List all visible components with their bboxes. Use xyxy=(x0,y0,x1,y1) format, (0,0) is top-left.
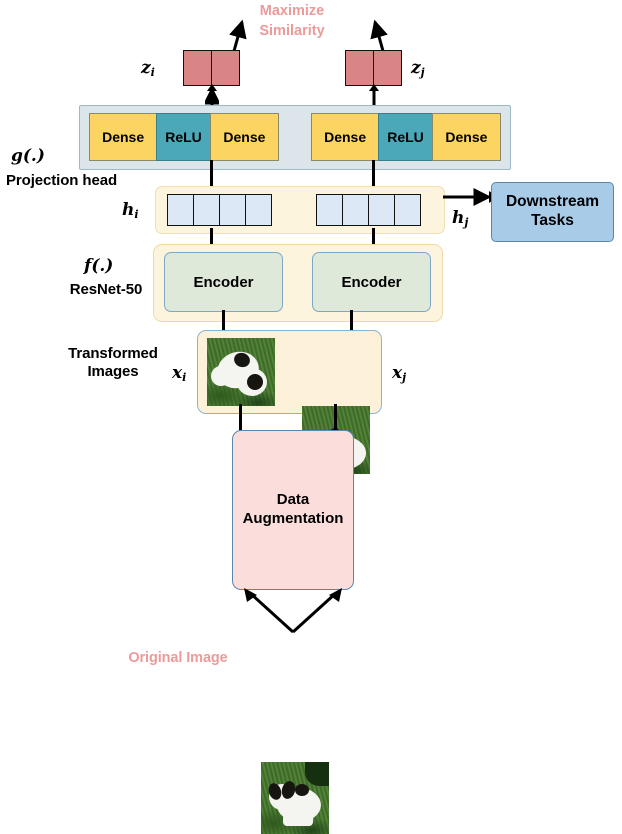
h-cell xyxy=(245,194,272,226)
encoder-i[interactable]: Encoder xyxy=(164,252,283,312)
simclr-diagram: Maximize Similarity zi zj Dense ReLU Den… xyxy=(0,0,622,701)
encoder-j[interactable]: Encoder xyxy=(312,252,431,312)
data-augmentation-box[interactable]: Data Augmentation xyxy=(232,430,354,590)
z-cell xyxy=(183,50,212,86)
original-to-augmentation-arrows xyxy=(232,586,354,634)
h-cell xyxy=(342,194,369,226)
z-i-label: zi xyxy=(141,60,155,77)
projection-function-label: g(.) xyxy=(11,148,45,165)
h-cell xyxy=(368,194,395,226)
projection-head-j: Dense ReLU Dense xyxy=(311,113,501,161)
dog-back-patch xyxy=(295,784,309,796)
h-j-label: hj xyxy=(452,210,468,227)
projection-head-i: Dense ReLU Dense xyxy=(89,113,279,161)
h-i-label: hi xyxy=(122,202,139,219)
transformed-image-i xyxy=(207,338,275,406)
dense-block[interactable]: Dense xyxy=(432,113,501,161)
x-j-label: xj xyxy=(392,365,406,382)
dog-tail xyxy=(211,366,231,386)
encoder-name-label: ResNet-50 xyxy=(56,281,156,299)
h-cell xyxy=(219,194,246,226)
projection-head-label: Projection head xyxy=(6,172,156,190)
h-vector-j xyxy=(316,194,424,226)
dense-block[interactable]: Dense xyxy=(89,113,157,161)
h-cell xyxy=(193,194,220,226)
transformed-images-label: Transformed Images xyxy=(48,345,178,380)
dense-block[interactable]: Dense xyxy=(311,113,379,161)
dog-legs xyxy=(283,814,313,826)
relu-block[interactable]: ReLU xyxy=(156,113,211,161)
z-vector-j xyxy=(345,50,403,86)
downstream-tasks-box[interactable]: Downstream Tasks xyxy=(491,182,614,242)
z-cell xyxy=(211,50,240,86)
dense-block[interactable]: Dense xyxy=(210,113,279,161)
original-image-label: Original Image xyxy=(88,650,268,667)
relu-block[interactable]: ReLU xyxy=(378,113,433,161)
x-i-label: xi xyxy=(172,365,186,382)
h-cell xyxy=(316,194,343,226)
z-cell xyxy=(345,50,374,86)
dog-face-patch xyxy=(247,374,263,390)
z-vector-i xyxy=(183,50,241,86)
h-cell xyxy=(167,194,194,226)
h-cell xyxy=(394,194,421,226)
connector-aug-to-x-j xyxy=(334,404,337,432)
encoder-function-label: f(.) xyxy=(84,258,113,275)
z-j-label: zj xyxy=(411,60,425,77)
connector-aug-to-x-i xyxy=(239,404,242,432)
h-vector-i xyxy=(167,194,275,226)
original-image xyxy=(261,762,329,834)
z-cell xyxy=(373,50,402,86)
